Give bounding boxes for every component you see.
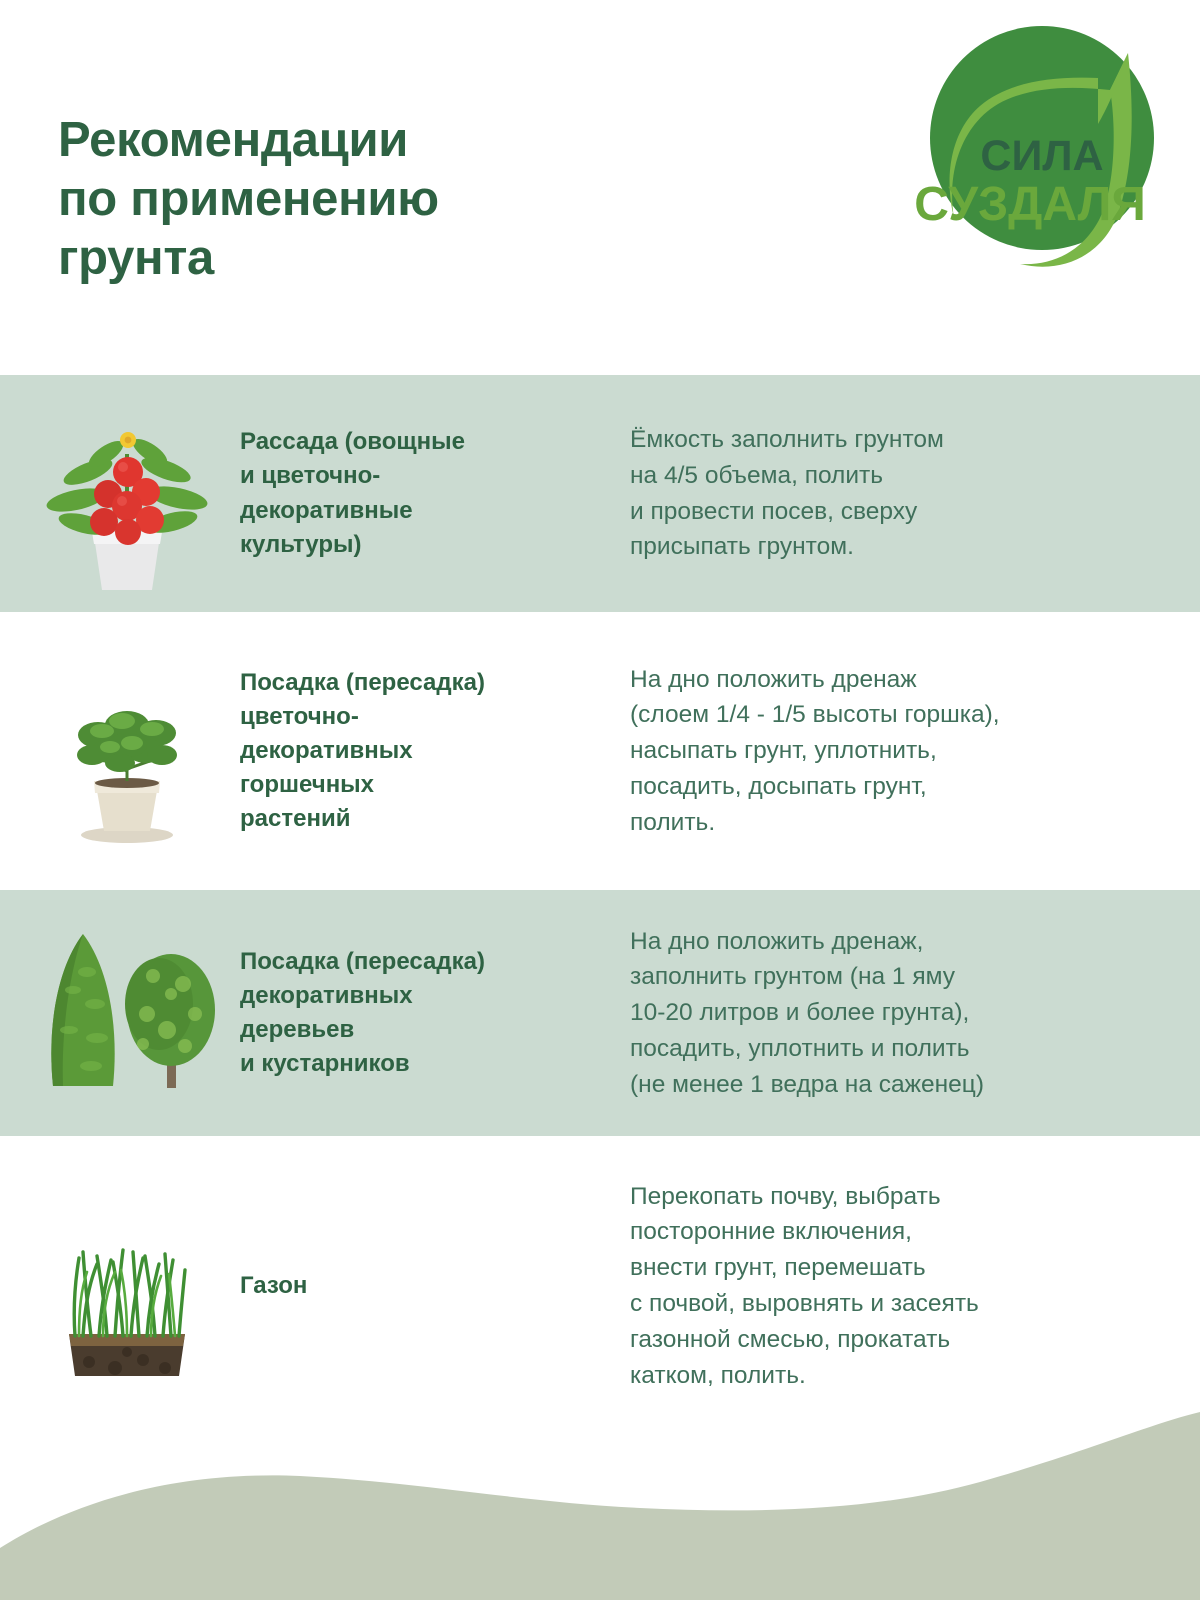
table-row: Посадка (пересадка) декоративных деревье…: [0, 890, 1200, 1136]
row-image-cell: [0, 612, 240, 890]
table-row: Посадка (пересадка) цветочно- декоративн…: [0, 612, 1200, 890]
lawn-grass-sod-block-icon: [27, 1186, 227, 1386]
row-description: На дно положить дренаж, заполнить грунто…: [630, 924, 1200, 1103]
table-row: Рассада (овощные и цветочно- декоративны…: [0, 375, 1200, 612]
row-description: Ёмкость заполнить грунтом на 4/5 объема,…: [630, 422, 1200, 565]
row-description: На дно положить дренаж (слоем 1/4 - 1/5 …: [630, 662, 1200, 841]
potted-houseplant-icon: [32, 651, 222, 851]
logo-line-2: СУЗДАЛЯ: [914, 178, 1146, 231]
recommendations-table: Рассада (овощные и цветочно- декоративны…: [0, 375, 1200, 1436]
row-title: Посадка (пересадка) декоративных деревье…: [240, 945, 630, 1081]
row-image-cell: [0, 890, 240, 1136]
table-row: Газон Перекопать почву, выбрать посторон…: [0, 1136, 1200, 1436]
conifer-and-shrub-trees-icon: [27, 918, 227, 1108]
page-header: Рекомендации по применению грунта СИЛА С…: [0, 0, 1200, 375]
row-image-cell: [0, 375, 240, 612]
page-title: Рекомендации по применению грунта: [58, 111, 678, 289]
row-title: Рассада (овощные и цветочно- декоративны…: [240, 425, 630, 561]
infographic-page: Рекомендации по применению грунта СИЛА С…: [0, 0, 1200, 1600]
tomato-seedling-in-pot-icon: [32, 394, 222, 594]
brand-logo: СИЛА СУЗДАЛЯ СИЛА СУЗДАЛЯ: [902, 18, 1170, 280]
logo-line-1: СИЛА: [980, 132, 1103, 180]
row-description: Перекопать почву, выбрать посторонние вк…: [630, 1179, 1200, 1394]
row-image-cell: [0, 1136, 240, 1436]
row-title: Посадка (пересадка) цветочно- декоративн…: [240, 666, 630, 836]
row-title: Газон: [240, 1269, 630, 1303]
